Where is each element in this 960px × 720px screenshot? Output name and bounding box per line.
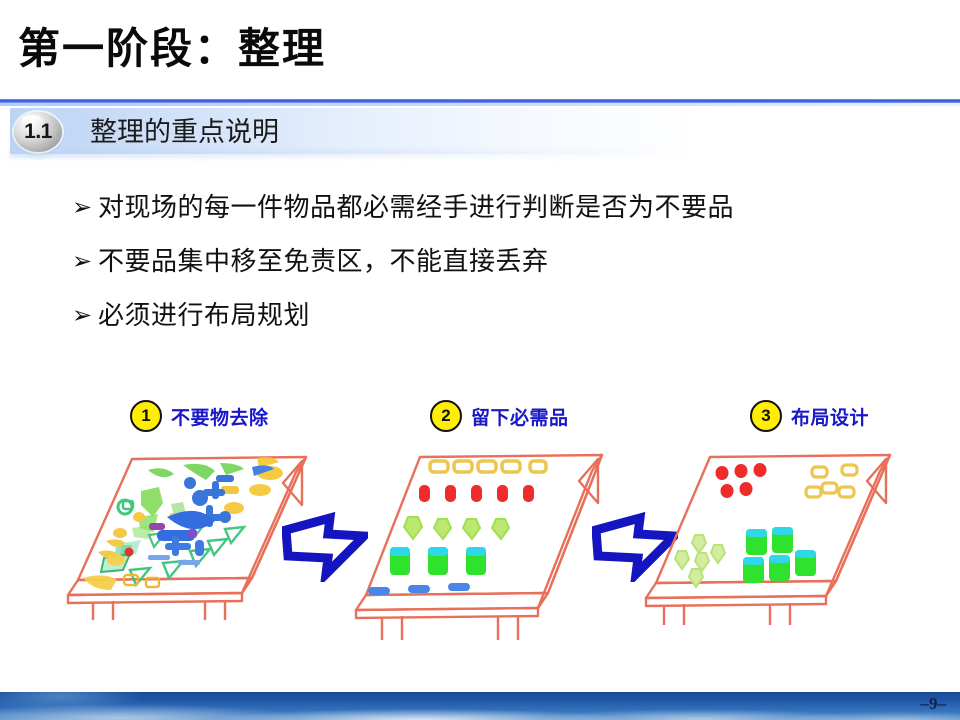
footer-sky-band	[0, 692, 960, 720]
stage-label: 布局设计	[791, 403, 869, 430]
section-badge-label: 1.1	[24, 120, 52, 144]
stage-1-header: 1 不要物去除	[130, 400, 269, 432]
process-diagram: 1 不要物去除	[0, 385, 960, 675]
diagram-stage-1: 1 不要物去除	[20, 395, 320, 655]
page-title: 第一阶段：整理	[18, 24, 326, 76]
section-badge: 1.1	[14, 112, 62, 152]
stage-number-badge: 3	[750, 400, 782, 432]
stage-label: 不要物去除	[171, 403, 269, 430]
list-item: ➢ 必须进行布局规划	[72, 298, 932, 332]
list-item-text: 对现场的每一件物品都必需经手进行判断是否为不要品	[98, 190, 734, 224]
section-heading: 整理的重点说明	[90, 116, 279, 148]
bullet-list: ➢ 对现场的每一件物品都必需经手进行判断是否为不要品 ➢ 不要品集中移至免责区，…	[72, 190, 932, 352]
stage-2-header: 2 留下必需品	[430, 400, 569, 432]
list-item: ➢ 对现场的每一件物品都必需经手进行判断是否为不要品	[72, 190, 932, 224]
slide-root: 第一阶段：整理 1.1 整理的重点说明 ➢ 对现场的每一件物品都必需经手进行判断…	[0, 0, 960, 720]
chevron-bullet-icon: ➢	[72, 190, 98, 224]
chevron-bullet-icon: ➢	[72, 244, 98, 278]
list-item: ➢ 不要品集中移至免责区，不能直接丢弃	[72, 244, 932, 278]
diagram-stage-2: 2 留下必需品	[330, 395, 630, 655]
stage-number-badge: 1	[130, 400, 162, 432]
stage-label: 留下必需品	[471, 403, 569, 430]
chevron-bullet-icon: ➢	[72, 298, 98, 332]
stage-3-header: 3 布局设计	[750, 400, 869, 432]
list-item-text: 必须进行布局规划	[98, 298, 310, 332]
stage-number-badge: 2	[430, 400, 462, 432]
page-number: –9–	[921, 694, 947, 714]
diagram-stage-3: 3 布局设计	[640, 395, 940, 655]
title-divider-glow	[0, 103, 960, 106]
cloud-decoration	[0, 692, 960, 720]
list-item-text: 不要品集中移至免责区，不能直接丢弃	[98, 244, 549, 278]
